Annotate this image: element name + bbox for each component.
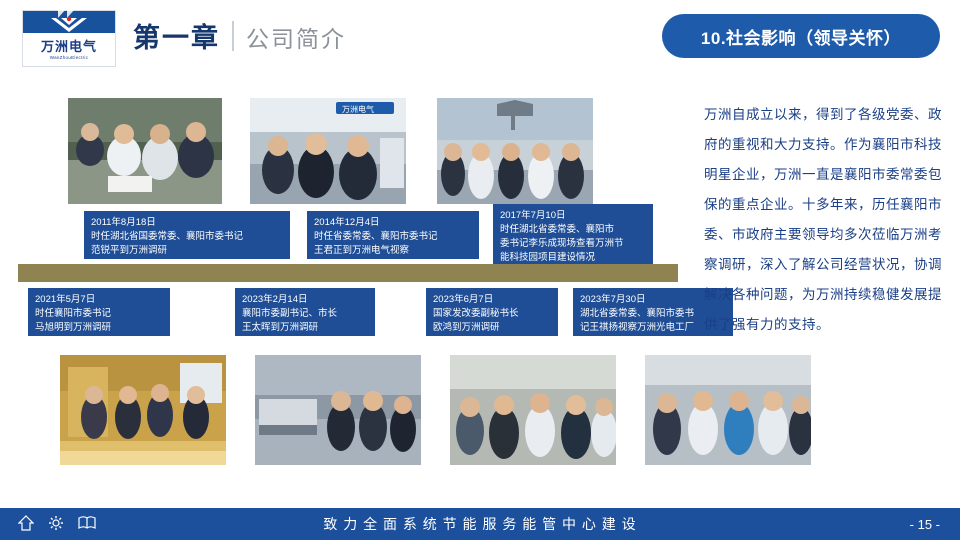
caption-2023-02: 2023年2月14日 襄阳市委副书记、市长 王太晖到万洲调研 xyxy=(235,288,375,336)
caption-2011: 2011年8月18日 时任湖北省国委常委、襄阳市委书记 范锐平到万洲调研 xyxy=(84,211,290,259)
photo-2011 xyxy=(68,98,222,204)
timeline-chevron-3 xyxy=(467,0,489,18)
logo-mark-icon xyxy=(49,15,89,35)
caption-2023-02-line2: 襄阳市委副书记、市长 xyxy=(242,307,369,321)
caption-2023-06-line2: 国家发改委副秘书长 xyxy=(433,307,552,321)
section-badge-label: 10.社会影响（领导关怀） xyxy=(701,24,901,49)
caption-2017-line2: 时任湖北省委常委、襄阳市 xyxy=(500,223,647,237)
slide: 万洲电气 WanZhouElectric 第一章 公司简介 10.社会影响（领导… xyxy=(0,0,960,540)
caption-2011-line1: 2011年8月18日 xyxy=(91,216,284,230)
photo-2017 xyxy=(437,98,593,204)
caption-2017: 2017年7月10日 时任湖北省委常委、襄阳市 委书记李乐成现场查看万洲节 能科… xyxy=(493,204,653,264)
photo-2023-02 xyxy=(255,355,421,465)
section-badge: 10.社会影响（领导关怀） xyxy=(662,14,940,58)
chapter-heading: 第一章 公司简介 xyxy=(133,16,346,55)
footer-bar: 致 力 全 面 系 统 节 能 服 务 能 管 中 心 建 设 - 15 - xyxy=(0,508,960,540)
caption-2014-line1: 2014年12月4日 xyxy=(314,216,473,230)
caption-2014-line2: 时任省委常委、襄阳市委书记 xyxy=(314,230,473,244)
chapter-subtitle: 公司简介 xyxy=(246,20,346,54)
caption-2021-line1: 2021年5月7日 xyxy=(35,293,164,307)
svg-text:万洲电气: 万洲电气 xyxy=(342,104,374,114)
chapter-title: 第一章 xyxy=(133,16,220,55)
caption-2023-06-line1: 2023年6月7日 xyxy=(433,293,552,307)
caption-2017-line3: 委书记李乐成现场查看万洲节 xyxy=(500,237,647,251)
footer-slogan: 致 力 全 面 系 统 节 能 服 务 能 管 中 心 建 设 xyxy=(0,508,960,540)
logo-name-cn: 万洲电气 xyxy=(41,36,97,55)
caption-2011-line2: 时任湖北省国委常委、襄阳市委书记 xyxy=(91,230,284,244)
caption-2011-line3: 范锐平到万洲调研 xyxy=(91,244,284,258)
logo-name-en: WanZhouElectric xyxy=(50,55,89,60)
caption-2021: 2021年5月7日 时任襄阳市委书记 马旭明到万洲调研 xyxy=(28,288,170,336)
caption-2023-02-line1: 2023年2月14日 xyxy=(242,293,369,307)
photo-2014: 万洲电气 xyxy=(250,98,406,204)
caption-2023-06: 2023年6月7日 国家发改委副秘书长 欧鸿到万洲调研 xyxy=(426,288,558,336)
timeline-chevron-2 xyxy=(281,0,303,18)
chapter-divider xyxy=(232,21,234,51)
company-logo: 万洲电气 WanZhouElectric xyxy=(22,10,116,67)
caption-2017-line4: 能科技园项目建设情况 xyxy=(500,251,647,265)
caption-2014-line3: 王君正到万洲电气视察 xyxy=(314,244,473,258)
caption-2014: 2014年12月4日 时任省委常委、襄阳市委书记 王君正到万洲电气视察 xyxy=(307,211,479,259)
page-number: - 15 - xyxy=(910,508,940,540)
caption-2021-line2: 时任襄阳市委书记 xyxy=(35,307,164,321)
caption-2017-line1: 2017年7月10日 xyxy=(500,209,647,223)
timeline-bar xyxy=(18,264,678,282)
photo-2023-07 xyxy=(645,355,811,465)
body-paragraph-text: 万洲自成立以来，得到了各级党委、政府的重视和大力支持。作为襄阳市科技明星企业，万… xyxy=(704,100,942,340)
photo-2021 xyxy=(60,355,226,465)
timeline-chevron-4 xyxy=(648,0,670,18)
caption-2023-06-line3: 欧鸿到万洲调研 xyxy=(433,321,552,335)
caption-2023-02-line3: 王太晖到万洲调研 xyxy=(242,321,369,335)
photo-2023-06 xyxy=(450,355,616,465)
caption-2021-line3: 马旭明到万洲调研 xyxy=(35,321,164,335)
body-paragraph: 万洲自成立以来，得到了各级党委、政府的重视和大力支持。作为襄阳市科技明星企业，万… xyxy=(704,100,942,340)
